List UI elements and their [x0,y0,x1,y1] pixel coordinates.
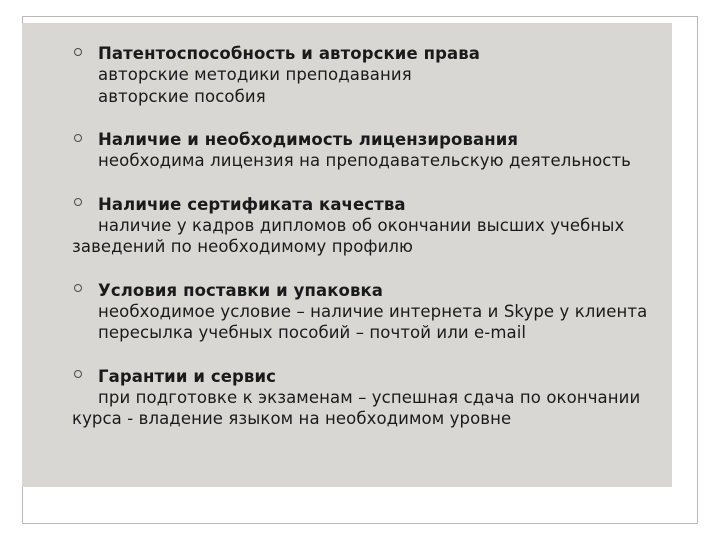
bullet-subline: авторские методики преподавания [22,64,672,85]
bullet-heading: Гарантии и сервис [22,366,672,387]
bullet-group: Условия поставки и упаковка необходимое … [22,280,672,344]
bullet-heading-text: Наличие и необходимость лицензирования [98,130,518,149]
bullet-subline: наличие у кадров дипломов об окончании в… [22,215,672,258]
bullet-heading: Патентоспособность и авторские права [22,43,672,64]
bullet-heading-text: Условия поставки и упаковка [98,281,383,300]
bullet-subline: при подготовке к экзаменам – успешная сд… [22,387,672,430]
content-panel: Патентоспособность и авторские права авт… [22,23,672,487]
bullet-subline: необходимое условие – наличие интернета … [22,301,672,322]
bullet-heading-text: Патентоспособность и авторские права [98,44,480,63]
bullet-subline: авторские пособия [22,86,672,107]
bullet-circle-icon [74,370,82,378]
bullet-circle-icon [74,48,82,56]
bullet-group: Патентоспособность и авторские права авт… [22,43,672,107]
bullet-circle-icon [74,198,82,206]
bullet-circle-icon [74,284,82,292]
bullet-subline: необходима лицензия на преподавательскую… [22,150,672,171]
bullet-heading: Наличие и необходимость лицензирования [22,129,672,150]
bullet-group: Наличие и необходимость лицензирования н… [22,129,672,172]
bullet-circle-icon [74,134,82,142]
bullet-group: Наличие сертификата качества наличие у к… [22,194,672,258]
bullet-group: Гарантии и сервис при подготовке к экзам… [22,366,672,430]
slide: Патентоспособность и авторские права авт… [0,0,720,540]
bullet-heading: Наличие сертификата качества [22,194,672,215]
bullet-subline: пересылка учебных пособий – почтой или e… [22,322,672,343]
bullet-heading-text: Гарантии и сервис [98,367,276,386]
bullet-heading-text: Наличие сертификата качества [98,195,406,214]
bullet-heading: Условия поставки и упаковка [22,280,672,301]
